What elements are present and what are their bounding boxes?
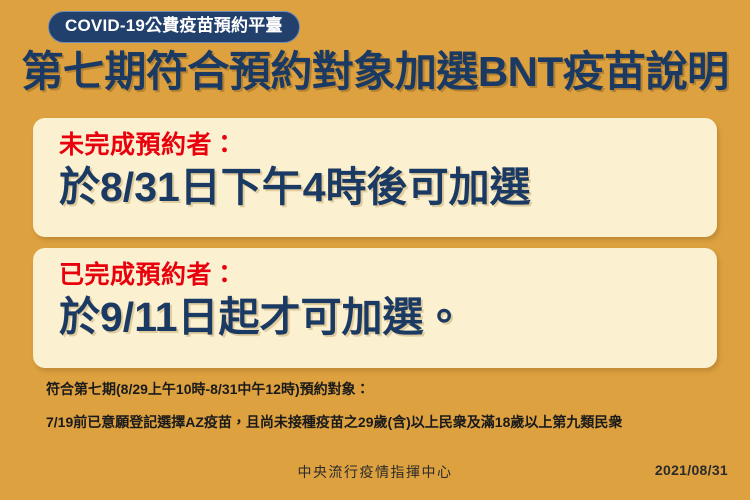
footer-organization: 中央流行疫情指揮中心 xyxy=(0,462,750,482)
poster-root: COVID-19公費疫苗預約平臺 第七期符合預約對象加選BNT疫苗說明 未完成預… xyxy=(0,0,750,500)
card-completed-booking: 已完成預約者： 於9/11日起才可加選。 xyxy=(33,248,717,368)
eligibility-notes: 符合第七期(8/29上午10時-8/31中午12時)預約對象： 7/19前已意願… xyxy=(46,380,716,431)
footer-date: 2021/08/31 xyxy=(655,462,728,478)
note-line: 符合第七期(8/29上午10時-8/31中午12時)預約對象： xyxy=(46,380,716,398)
card-heading: 未完成預約者： xyxy=(59,130,717,160)
platform-badge-container: COVID-19公費疫苗預約平臺 xyxy=(48,11,300,43)
note-line: 7/19前已意願登記選擇AZ疫苗，且尚未接種疫苗之29歲(含)以上民衆及滿18歲… xyxy=(46,413,716,431)
page-title: 第七期符合預約對象加選BNT疫苗說明 xyxy=(0,48,750,95)
card-heading: 已完成預約者： xyxy=(59,260,717,290)
card-body-text: 於9/11日起才可加選。 xyxy=(59,294,717,341)
card-body-text: 於8/31日下午4時後可加選 xyxy=(59,164,717,211)
platform-badge: COVID-19公費疫苗預約平臺 xyxy=(48,11,300,43)
card-incomplete-booking: 未完成預約者： 於8/31日下午4時後可加選 xyxy=(33,118,717,237)
footer: 中央流行疫情指揮中心 2021/08/31 xyxy=(0,462,750,488)
